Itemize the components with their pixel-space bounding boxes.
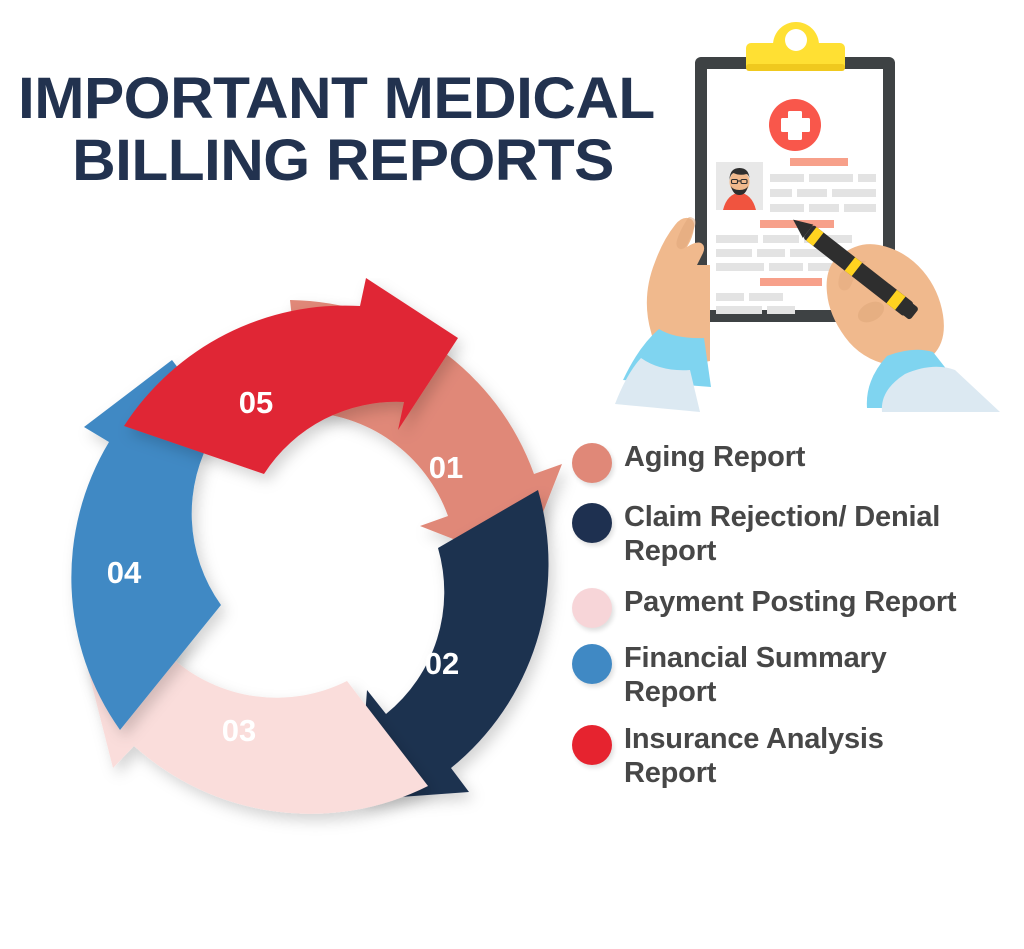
legend-label-04: Financial Summary Report [624,641,969,709]
legend-label-02: Claim Rejection/ Denial Report [624,500,969,568]
legend-item-insurance-analysis-report[interactable]: Insurance Analysis Report [572,722,1012,790]
cycle-label-03: 03 [222,713,256,748]
legend: Aging Report Claim Rejection/ Denial Rep… [572,440,1012,803]
page-title-line-1: IMPORTANT MEDICAL [18,68,684,130]
legend-dot-04 [572,644,612,684]
left-hand [615,217,711,412]
legend-dot-02 [572,503,612,543]
page-title: IMPORTANT MEDICAL BILLING REPORTS [18,68,658,192]
legend-dot-01 [572,443,612,483]
cycle-label-04: 04 [107,555,142,590]
legend-item-financial-summary-report[interactable]: Financial Summary Report [572,641,1012,709]
cycle-label-01: 01 [429,450,463,485]
legend-label-03: Payment Posting Report [624,585,956,619]
clipboard-clip-icon [746,22,845,71]
legend-label-05: Insurance Analysis Report [624,722,969,790]
cycle-label-05: 05 [239,385,273,420]
cycle-label-02: 02 [425,646,459,681]
legend-dot-03 [572,588,612,628]
infographic-canvas: IMPORTANT MEDICAL BILLING REPORTS [0,0,1024,949]
cycle-diagram: 01 02 03 04 05 [14,278,584,848]
patient-photo [716,162,763,210]
legend-dot-05 [572,725,612,765]
legend-item-payment-posting-report[interactable]: Payment Posting Report [572,585,1012,628]
legend-label-01: Aging Report [624,440,805,474]
page-title-line-2: BILLING REPORTS [18,130,668,192]
medical-cross-icon [769,99,821,151]
clipboard-illustration [615,12,1024,412]
legend-item-aging-report[interactable]: Aging Report [572,440,1012,483]
legend-item-claim-rejection-denial-report[interactable]: Claim Rejection/ Denial Report [572,500,1012,568]
